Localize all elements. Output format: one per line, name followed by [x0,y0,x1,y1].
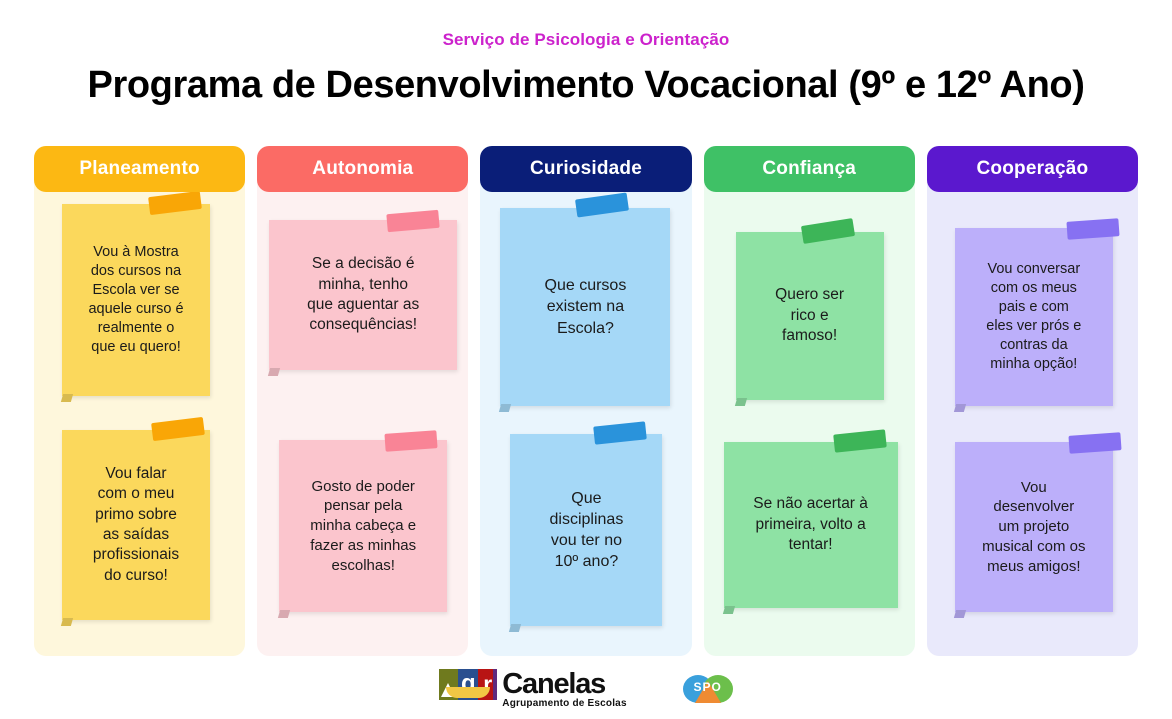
column-header-curiosidade: Curiosidade [480,146,691,192]
tape-strip [1066,218,1119,240]
poster-subtitle: Serviço de Psicologia e Orientação [0,30,1172,50]
sticky-note[interactable]: Vou conversar com os meus pais e com ele… [955,228,1113,406]
notes-area-curiosidade: Que cursos existem na Escola? Que discip… [480,192,691,656]
agr-tagline: Agrupamento de Escolas [502,698,626,709]
sticky-note[interactable]: Se não acertar à primeira, volto a tenta… [724,442,898,608]
agr-purple-bar [493,669,497,700]
sticky-note-text: Que cursos existem na Escola? [512,275,658,338]
sticky-note[interactable]: Que cursos existem na Escola? [500,208,670,406]
tape-strip [1068,432,1121,454]
sticky-note-text: Gosto de poder pensar pela minha cabeça … [291,477,435,576]
notes-area-cooperacao: Vou conversar com os meus pais e com ele… [927,192,1138,656]
column-curiosidade: Curiosidade Que cursos existem na Escola… [480,146,691,656]
sticky-note-text: Se não acertar à primeira, volto a tenta… [736,494,886,555]
agrupamento-canelas-logo: g r Canelas Agrupamento de Escolas [439,669,626,709]
column-autonomia: Autonomia Se a decisão é minha, tenho qu… [257,146,468,656]
column-header-autonomia: Autonomia [257,146,468,192]
spo-label: SPO [683,680,733,694]
column-planeamento: Planeamento Vou à Mostra dos cursos na E… [34,146,245,656]
agr-wordmark: Canelas Agrupamento de Escolas [502,669,626,709]
sticky-note-text: Vou conversar com os meus pais e com ele… [967,260,1101,375]
sticky-note[interactable]: Quero ser rico e famoso! [736,232,884,400]
column-header-planeamento: Planeamento [34,146,245,192]
sticky-note-text: Que disciplinas vou ter no 10º ano? [522,488,650,572]
agr-name: Canelas [502,669,626,699]
sticky-note-text: Vou falar com o meu primo sobre as saída… [74,464,198,587]
sticky-note-text: Se a decisão é minha, tenho que aguentar… [281,254,445,336]
sticky-note[interactable]: Que disciplinas vou ter no 10º ano? [510,434,662,626]
sticky-note[interactable]: Vou falar com o meu primo sobre as saída… [62,430,210,620]
column-header-confianca: Confiança [704,146,915,192]
columns-container: Planeamento Vou à Mostra dos cursos na E… [34,146,1138,656]
sticky-note-text: Vou à Mostra dos cursos na Escola ver se… [74,243,198,358]
sticky-note[interactable]: Gosto de poder pensar pela minha cabeça … [279,440,447,612]
agr-mark-icon: g r [439,669,497,700]
column-confianca: Confiança Quero ser rico e famoso! Se nã… [704,146,915,656]
spo-logo: SPO [683,673,733,705]
poster-root: Serviço de Psicologia e Orientação Progr… [0,0,1172,719]
footer-logos: g r Canelas Agrupamento de Escolas SPO [0,658,1172,719]
sticky-note-text: Vou desenvolver um projeto musical com o… [967,478,1101,577]
notes-area-autonomia: Se a decisão é minha, tenho que aguentar… [257,192,468,656]
notes-area-confianca: Quero ser rico e famoso! Se não acertar … [704,192,915,656]
column-header-cooperacao: Cooperação [927,146,1138,192]
sticky-note[interactable]: Se a decisão é minha, tenho que aguentar… [269,220,457,370]
sticky-note[interactable]: Vou desenvolver um projeto musical com o… [955,442,1113,612]
tape-strip [385,430,438,452]
swoosh-icon [446,687,490,698]
page-title: Programa de Desenvolvimento Vocacional (… [0,64,1172,107]
column-cooperacao: Cooperação Vou conversar com os meus pai… [927,146,1138,656]
sticky-note-text: Quero ser rico e famoso! [748,285,872,346]
notes-area-planeamento: Vou à Mostra dos cursos na Escola ver se… [34,192,245,656]
sticky-note[interactable]: Vou à Mostra dos cursos na Escola ver se… [62,204,210,396]
